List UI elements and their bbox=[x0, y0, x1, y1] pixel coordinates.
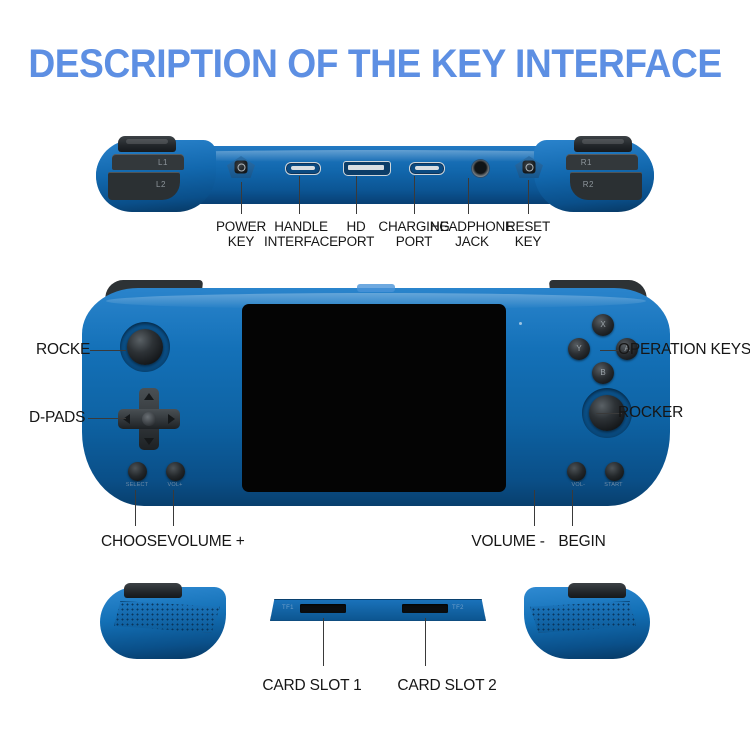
label-headphone-jack-line1: HEADPHONE bbox=[430, 219, 514, 234]
card-slot-1-caption: TF1 bbox=[282, 605, 294, 611]
label-power-key-line2: KEY bbox=[228, 234, 254, 249]
shoulder-button-r1[interactable] bbox=[566, 154, 638, 170]
card-slot-2-caption: TF2 bbox=[452, 605, 464, 611]
leader-card-slot-1 bbox=[323, 618, 324, 666]
label-hd-port-line1: HD bbox=[346, 219, 365, 234]
label-d-pad: D-PADS bbox=[29, 410, 85, 425]
card-slot-1[interactable] bbox=[300, 604, 346, 613]
leader-choose bbox=[135, 490, 136, 526]
shoulder-label-l1: L1 bbox=[158, 158, 168, 167]
start-button-caption: START bbox=[604, 482, 623, 488]
label-power-key: POWER KEY bbox=[216, 219, 266, 249]
label-handle-interface-line2: INTERFACE bbox=[264, 234, 338, 249]
shoulder-label-l2: L2 bbox=[156, 180, 166, 189]
headphone-jack bbox=[471, 159, 490, 178]
hd-port bbox=[343, 161, 391, 176]
operation-key-x[interactable]: X bbox=[592, 314, 614, 336]
leader-volume-up bbox=[173, 490, 174, 526]
label-reset-key-line1: RESET bbox=[506, 219, 550, 234]
key-interface-diagram: DESCRIPTION OF THE KEY INTERFACE L1 L2 R… bbox=[0, 0, 750, 750]
d-pad-up-arrow-icon bbox=[144, 393, 154, 400]
indicator-led bbox=[519, 322, 522, 325]
leader-charging-port bbox=[414, 176, 415, 214]
volume-down-button-caption: VOL- bbox=[572, 482, 586, 488]
right-analog-stick-nub[interactable] bbox=[574, 136, 632, 152]
label-power-key-line1: POWER bbox=[216, 219, 266, 234]
label-hd-port: HD PORT bbox=[338, 219, 374, 249]
d-pad-center bbox=[142, 412, 156, 426]
shoulder-button-l1[interactable] bbox=[112, 154, 184, 170]
label-choose: CHOOSE bbox=[101, 534, 167, 549]
leader-card-slot-2 bbox=[425, 618, 426, 666]
label-hd-port-line2: PORT bbox=[338, 234, 374, 249]
volume-up-button[interactable] bbox=[166, 462, 185, 481]
volume-down-button[interactable] bbox=[567, 462, 586, 481]
d-pad[interactable] bbox=[118, 388, 180, 450]
leader-d-pad bbox=[88, 418, 126, 419]
leader-left-rocker bbox=[90, 350, 126, 351]
label-handle-interface-line1: HANDLE bbox=[274, 219, 328, 234]
operation-key-y[interactable]: Y bbox=[568, 338, 590, 360]
label-left-rocker: ROCKE bbox=[36, 342, 90, 357]
label-card-slot-1: CARD SLOT 1 bbox=[262, 678, 361, 693]
d-pad-right-arrow-icon bbox=[168, 414, 175, 424]
label-card-slot-2: CARD SLOT 2 bbox=[397, 678, 496, 693]
select-button[interactable] bbox=[128, 462, 147, 481]
front-top-accent-bar bbox=[357, 284, 395, 292]
leader-headphone-jack bbox=[468, 178, 469, 214]
display-screen[interactable] bbox=[242, 304, 506, 492]
top-edge-left-grip: L1 L2 bbox=[96, 140, 216, 212]
leader-handle-interface bbox=[299, 176, 300, 214]
leader-power-key bbox=[241, 182, 242, 214]
leader-begin bbox=[572, 490, 573, 526]
shoulder-button-l2[interactable] bbox=[108, 172, 180, 200]
label-handle-interface: HANDLE INTERFACE bbox=[264, 219, 338, 249]
operation-key-b[interactable]: B bbox=[592, 362, 614, 384]
d-pad-down-arrow-icon bbox=[144, 438, 154, 445]
shoulder-button-r2[interactable] bbox=[570, 172, 642, 200]
d-pad-left-arrow-icon bbox=[123, 414, 130, 424]
bottom-right-stick-nub bbox=[568, 583, 626, 598]
charging-port bbox=[409, 162, 445, 175]
page-title: DESCRIPTION OF THE KEY INTERFACE bbox=[26, 42, 724, 87]
volume-up-button-caption: VOL+ bbox=[167, 482, 182, 488]
card-slot-2[interactable] bbox=[402, 604, 448, 613]
label-begin: BEGIN bbox=[558, 534, 605, 549]
left-rocker-stick[interactable] bbox=[120, 322, 170, 372]
bottom-edge-view: TF1 TF2 bbox=[100, 585, 650, 663]
label-right-rocker: ROCKER bbox=[618, 405, 683, 420]
leader-reset-key bbox=[528, 180, 529, 214]
label-volume-up: VOLUME + bbox=[167, 534, 244, 549]
label-operation-keys: OPERATION KEYS bbox=[618, 342, 750, 357]
bottom-left-stick-nub bbox=[124, 583, 182, 598]
shoulder-label-r1: R1 bbox=[581, 158, 592, 167]
top-edge-right-grip: R1 R2 bbox=[534, 140, 654, 212]
start-button[interactable] bbox=[605, 462, 624, 481]
top-edge-view: L1 L2 R1 R2 bbox=[96, 136, 654, 214]
shoulder-label-r2: R2 bbox=[583, 180, 594, 189]
label-reset-key-line2: KEY bbox=[515, 234, 541, 249]
label-headphone-jack: HEADPHONE JACK bbox=[430, 219, 514, 249]
label-headphone-jack-line2: JACK bbox=[455, 234, 489, 249]
leader-volume-down bbox=[534, 490, 535, 526]
label-charging-port-line2: PORT bbox=[396, 234, 432, 249]
leader-hd-port bbox=[356, 176, 357, 214]
left-analog-stick-nub[interactable] bbox=[118, 136, 176, 152]
label-reset-key: RESET KEY bbox=[506, 219, 550, 249]
front-face-view: X Y A B SELECT VOL+ VOL- START bbox=[82, 280, 670, 515]
select-button-caption: SELECT bbox=[126, 482, 149, 488]
label-volume-down: VOLUME - bbox=[471, 534, 544, 549]
handle-interface-port bbox=[285, 162, 321, 175]
